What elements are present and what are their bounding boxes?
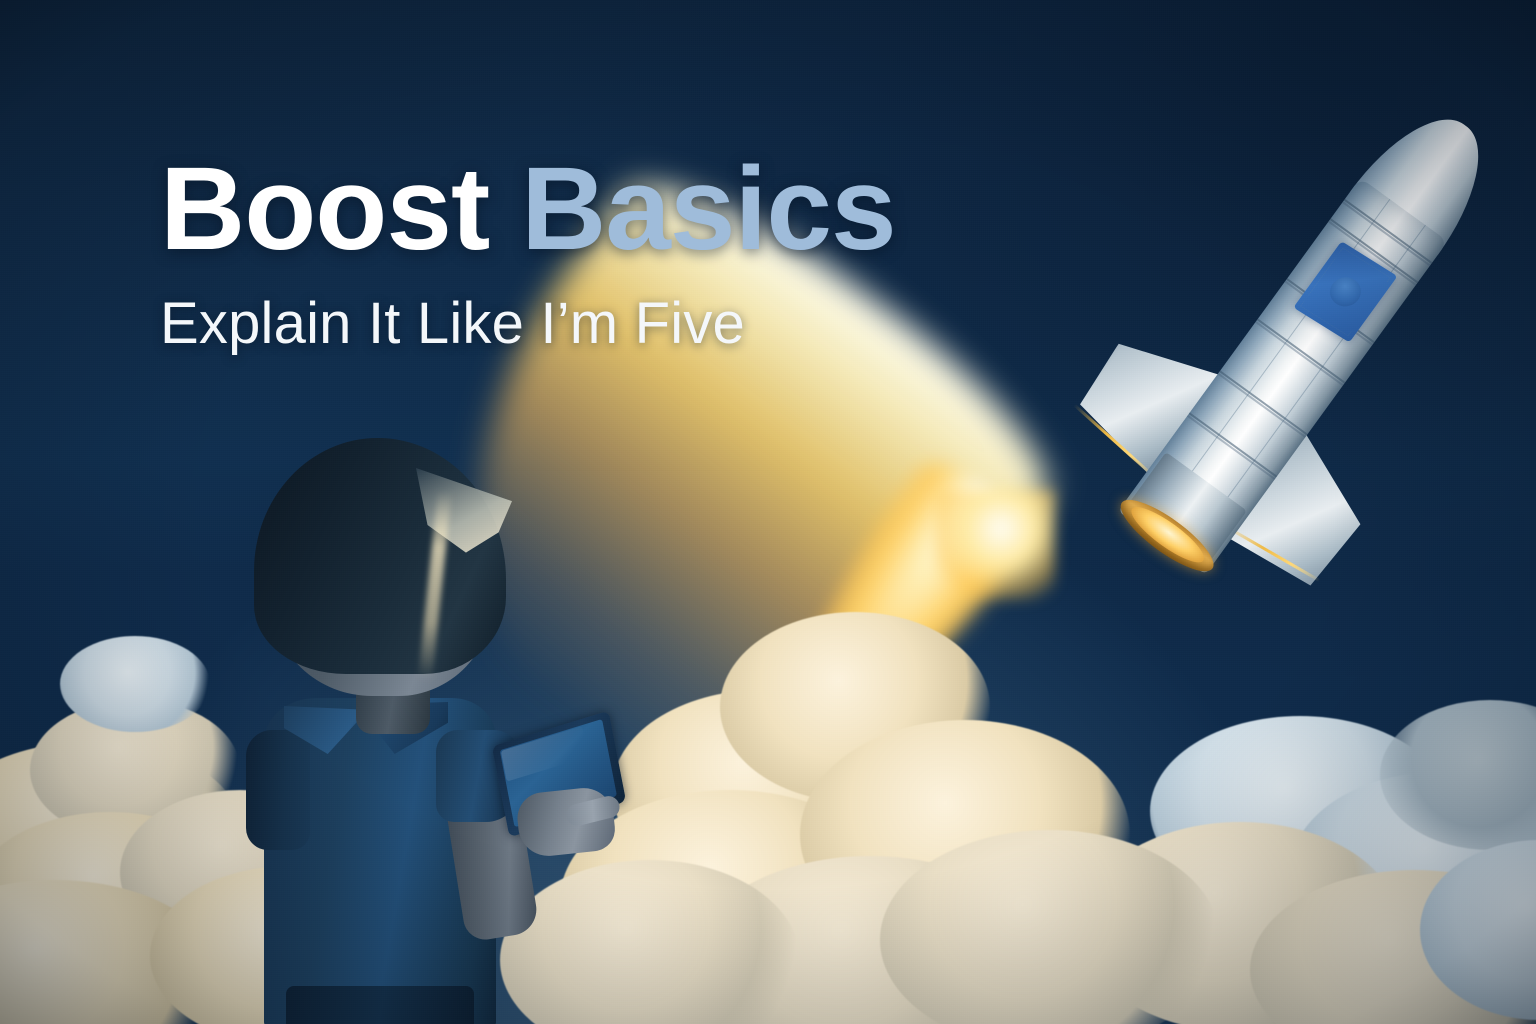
title-word-primary: Boost	[160, 143, 489, 275]
child-figure	[180, 430, 600, 1024]
illustration-canvas: Boost Basics Explain It Like I’m Five	[0, 0, 1536, 1024]
child-hand	[515, 785, 617, 859]
child-shorts	[286, 986, 474, 1024]
title-block: Boost Basics Explain It Like I’m Five	[160, 150, 896, 357]
title-word-secondary: Basics	[521, 143, 896, 275]
page-title: Boost Basics	[160, 150, 896, 268]
page-subtitle: Explain It Like I’m Five	[160, 290, 896, 357]
child-sleeve-left	[246, 730, 310, 850]
child-hair	[254, 438, 506, 674]
